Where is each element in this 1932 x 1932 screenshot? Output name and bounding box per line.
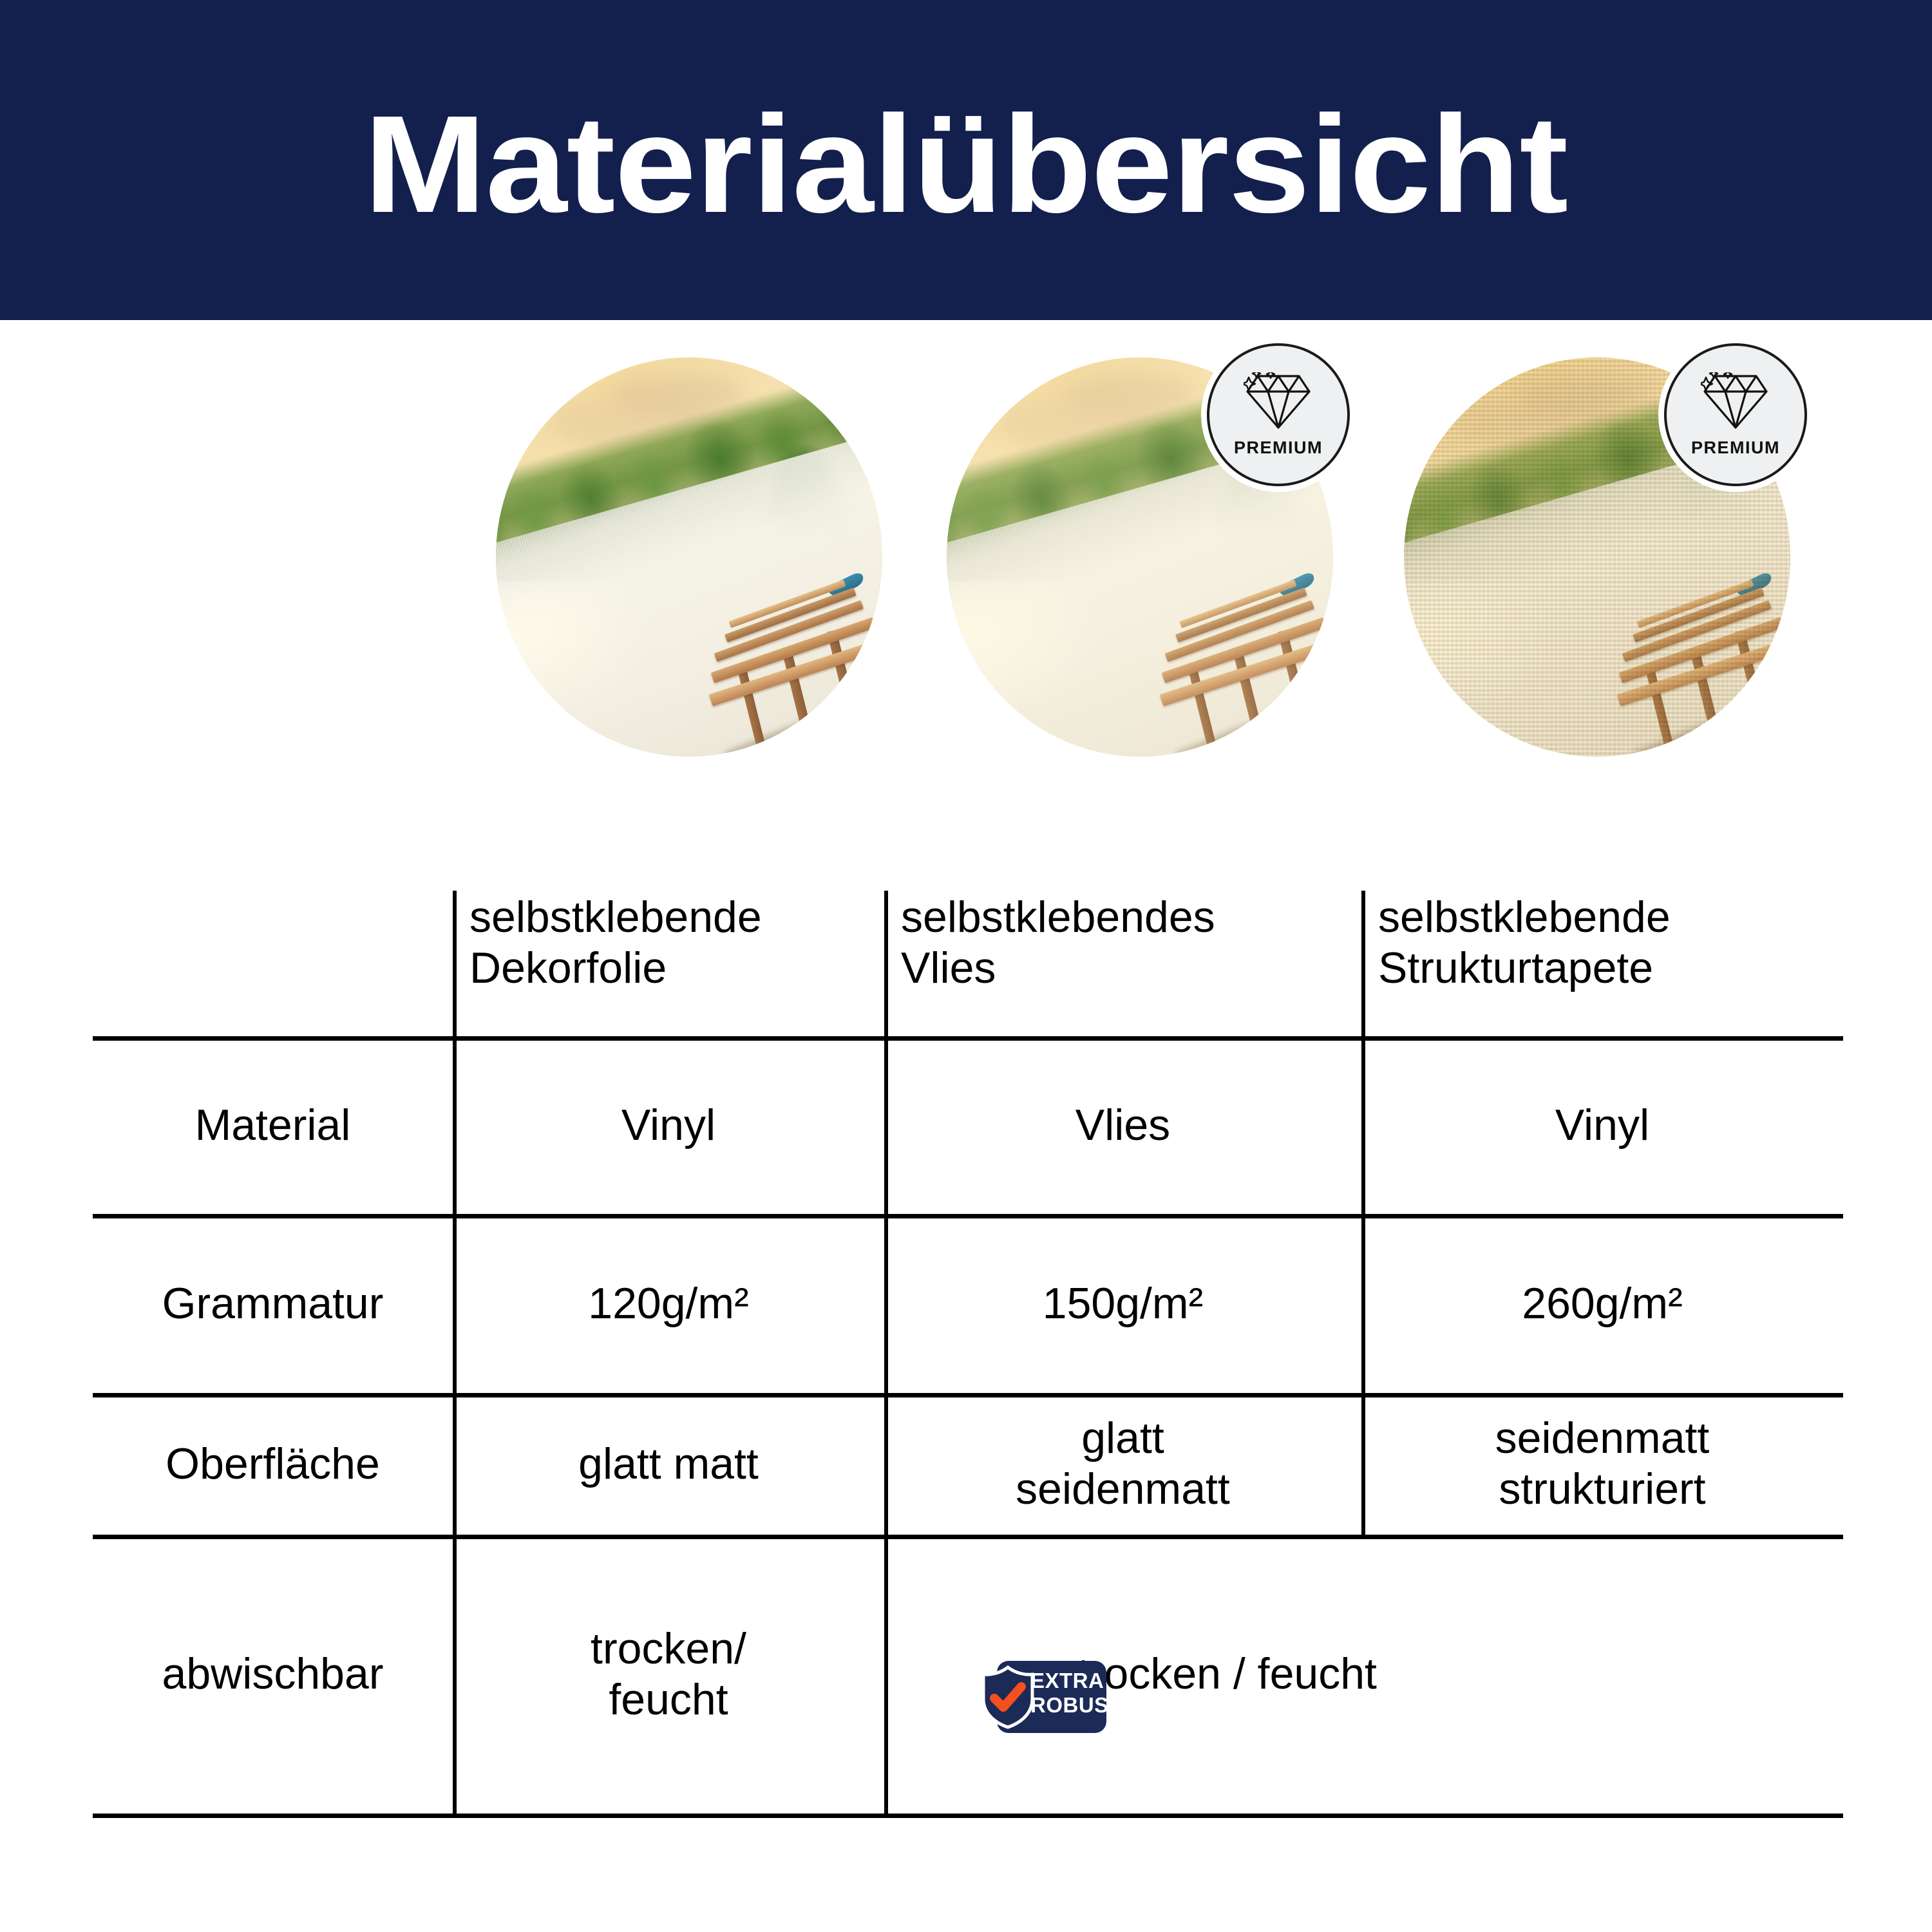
column-header-line1: selbstklebende [469, 892, 762, 943]
material-comparison-table: selbstklebende Dekorfolie selbstklebende… [93, 891, 1843, 1818]
row-label-grammatur: Grammatur [93, 1214, 453, 1393]
cell-abwischbar-dekorfolie: trocken/ feucht [453, 1535, 884, 1814]
swatch-vlies[interactable]: PREMIUM [947, 357, 1333, 757]
row-label-abwischbar: abwischbar [93, 1535, 453, 1814]
swatch-image-dekorfolie [496, 357, 882, 757]
cell-line2: seidenmatt [1016, 1464, 1230, 1515]
cell-line2: feucht [591, 1674, 746, 1725]
cell-line1: glatt matt [578, 1439, 759, 1490]
diamond-icon [1244, 372, 1313, 431]
premium-badge-label: PREMIUM [1234, 438, 1323, 458]
shield-check-icon [980, 1665, 1036, 1729]
column-header-line2: Dekorfolie [469, 943, 762, 994]
cell-material-dekorfolie: Vinyl [453, 1036, 884, 1214]
extra-robust-badge: EXTRA ROBUST [980, 1661, 1106, 1733]
cell-line1: trocken/ [591, 1624, 746, 1674]
column-header-line2: Strukturtapete [1378, 943, 1671, 994]
robust-badge-line2: ROBUST [1030, 1694, 1122, 1716]
page-title: Materialübersicht [364, 87, 1567, 233]
premium-badge-label: PREMIUM [1691, 438, 1780, 458]
cell-grammatur-vlies: 150g/m² [884, 1214, 1361, 1393]
diamond-icon [1701, 372, 1770, 431]
column-header-line2: Vlies [901, 943, 1215, 994]
row-label-material: Material [93, 1036, 453, 1214]
material-swatch-row: PREMIUM [0, 322, 1932, 792]
cell-line1: seidenmatt [1495, 1413, 1710, 1464]
row-label-oberflaeche: Oberfläche [93, 1393, 453, 1535]
swatch-dekorfolie[interactable] [496, 357, 882, 757]
cell-grammatur-strukturtapete: 260g/m² [1361, 1214, 1843, 1393]
cell-line1: glatt [1016, 1413, 1230, 1464]
robust-badge-line1: EXTRA [1030, 1670, 1122, 1691]
premium-badge-vlies: PREMIUM [1207, 343, 1350, 486]
column-header-strukturtapete: selbstklebende Strukturtapete [1361, 891, 1843, 1036]
cell-material-strukturtapete: Vinyl [1361, 1036, 1843, 1214]
header-bar: Materialübersicht [0, 0, 1932, 320]
column-header-line1: selbstklebendes [901, 892, 1215, 943]
table-hline-bottom [93, 1814, 1843, 1818]
cell-oberflaeche-dekorfolie: glatt matt [453, 1393, 884, 1535]
cell-line2: strukturiert [1495, 1464, 1710, 1515]
swatch-strukturtapete[interactable]: PREMIUM [1404, 357, 1790, 757]
premium-badge-strukturtapete: PREMIUM [1664, 343, 1807, 486]
cell-oberflaeche-vlies: glatt seidenmatt [884, 1393, 1361, 1535]
column-header-dekorfolie: selbstklebende Dekorfolie [453, 891, 884, 1036]
robust-badge-text: EXTRA ROBUST [1030, 1670, 1122, 1716]
cell-oberflaeche-strukturtapete: seidenmatt strukturiert [1361, 1393, 1843, 1535]
cell-material-vlies: Vlies [884, 1036, 1361, 1214]
column-header-vlies: selbstklebendes Vlies [884, 891, 1361, 1036]
cell-grammatur-dekorfolie: 120g/m² [453, 1214, 884, 1393]
column-header-line1: selbstklebende [1378, 892, 1671, 943]
